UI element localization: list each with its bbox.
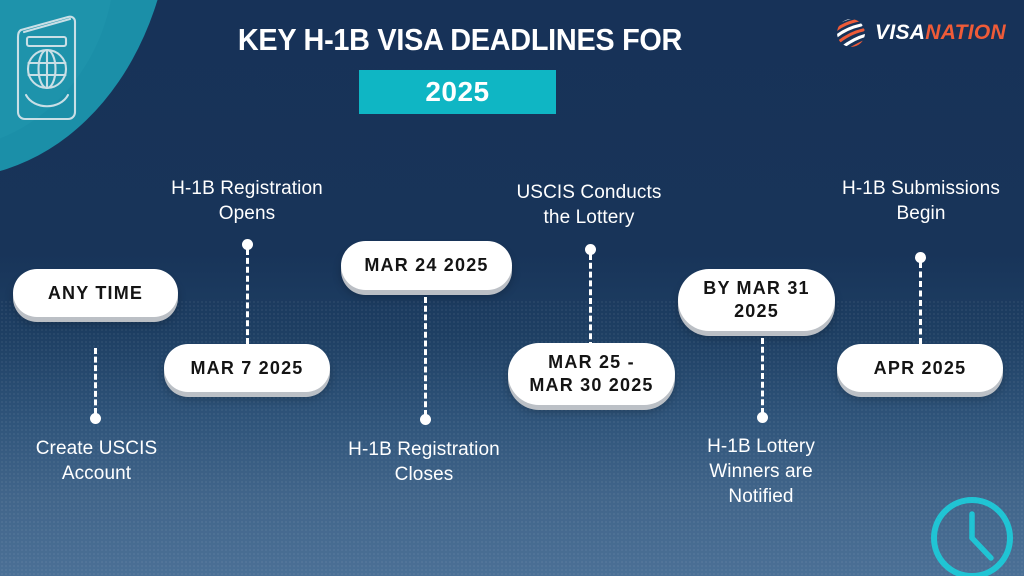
milestone-caption-h1b-registration-closes: H-1B Registration Closes [318, 437, 530, 487]
connector-uscis-conducts-lottery [589, 254, 592, 348]
connector-h1b-registration-opens [246, 249, 249, 344]
milestone-badge-uscis-conducts-lottery[interactable]: MAR 25 - MAR 30 2025 [508, 343, 675, 405]
infographic-canvas: KEY H-1B VISA DEADLINES FOR 2025 [0, 0, 1024, 576]
milestone-badge-h1b-lottery-winners-notified[interactable]: BY MAR 31 2025 [678, 269, 835, 331]
passport-globe-icon [10, 12, 86, 124]
logo-text-nation: NATION [925, 21, 1006, 44]
milestone-caption-h1b-submissions-begin: H-1B Submissions Begin [818, 176, 1024, 226]
milestone-badge-h1b-submissions-begin[interactable]: APR 2025 [837, 344, 1003, 392]
milestone-badge-h1b-registration-opens[interactable]: MAR 7 2025 [164, 344, 330, 392]
milestone-caption-h1b-registration-opens: H-1B Registration Opens [142, 176, 352, 226]
milestone-badge-h1b-registration-closes[interactable]: MAR 24 2025 [341, 241, 512, 290]
connector-dot-create-uscis-account [90, 413, 101, 424]
visanation-logo[interactable]: VISANATION [836, 16, 1006, 50]
logo-text-visa: VISA [875, 21, 925, 44]
milestone-caption-uscis-conducts-lottery: USCIS Conducts the Lottery [483, 180, 695, 230]
milestone-caption-h1b-lottery-winners-notified: H-1B Lottery Winners are Notified [661, 434, 861, 509]
connector-create-uscis-account [94, 348, 97, 414]
connector-dot-h1b-registration-closes [420, 414, 431, 425]
year-badge-label: 2025 [425, 76, 489, 108]
milestone-caption-create-uscis-account: Create USCIS Account [0, 436, 193, 486]
milestone-badge-create-uscis-account[interactable]: ANY TIME [13, 269, 178, 317]
connector-h1b-registration-closes [424, 297, 427, 416]
connector-h1b-submissions-begin [919, 262, 922, 344]
clock-icon [928, 494, 1016, 576]
year-badge: 2025 [359, 70, 556, 114]
connector-dot-h1b-lottery-winners-notified [757, 412, 768, 423]
connector-h1b-lottery-winners-notified [761, 338, 764, 414]
page-title: KEY H-1B VISA DEADLINES FOR [172, 20, 749, 60]
visanation-globe-mark [836, 18, 866, 48]
visanation-wordmark: VISANATION [875, 21, 1006, 45]
